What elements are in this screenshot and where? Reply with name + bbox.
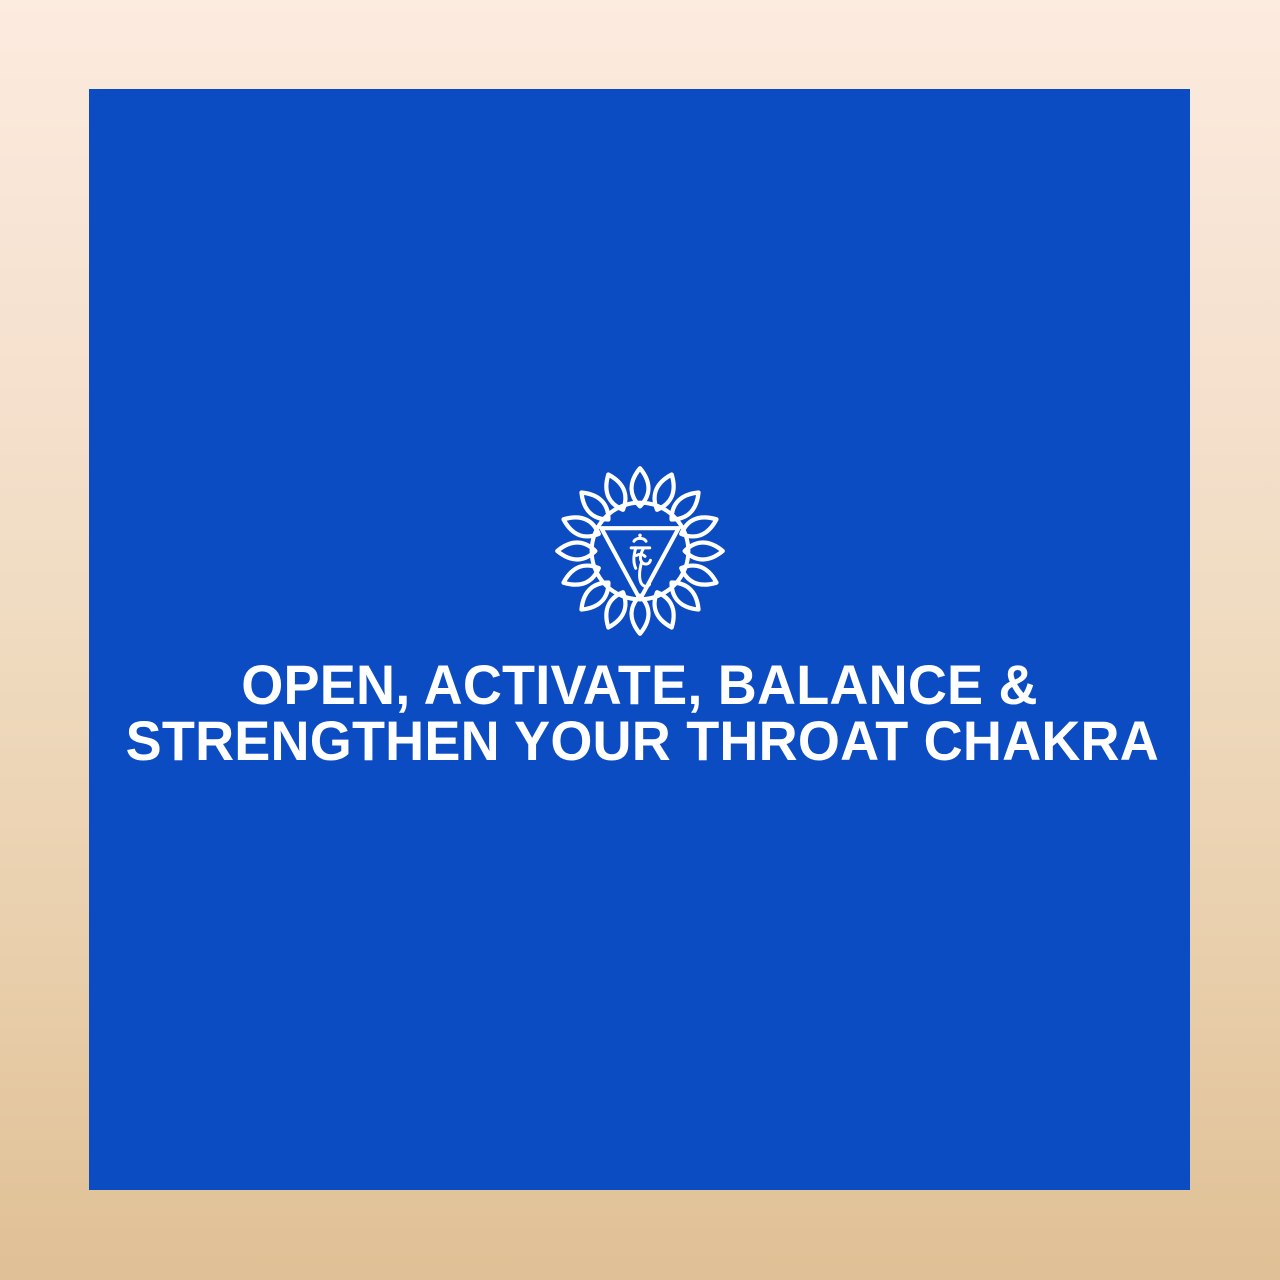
emblem-container <box>89 458 1190 644</box>
headline-line-2: STRENGTHEN YOUR THROAT CHAKRA <box>126 713 1154 769</box>
headline: OPEN, ACTIVATE, BALANCE & STRENGTHEN YOU… <box>89 657 1190 769</box>
poster-canvas: OPEN, ACTIVATE, BALANCE & STRENGTHEN YOU… <box>0 0 1280 1280</box>
chakra-card-panel: OPEN, ACTIVATE, BALANCE & STRENGTHEN YOU… <box>89 89 1190 1190</box>
throat-chakra-vishuddha-symbol <box>547 458 733 644</box>
headline-line-1: OPEN, ACTIVATE, BALANCE & <box>126 657 1154 713</box>
